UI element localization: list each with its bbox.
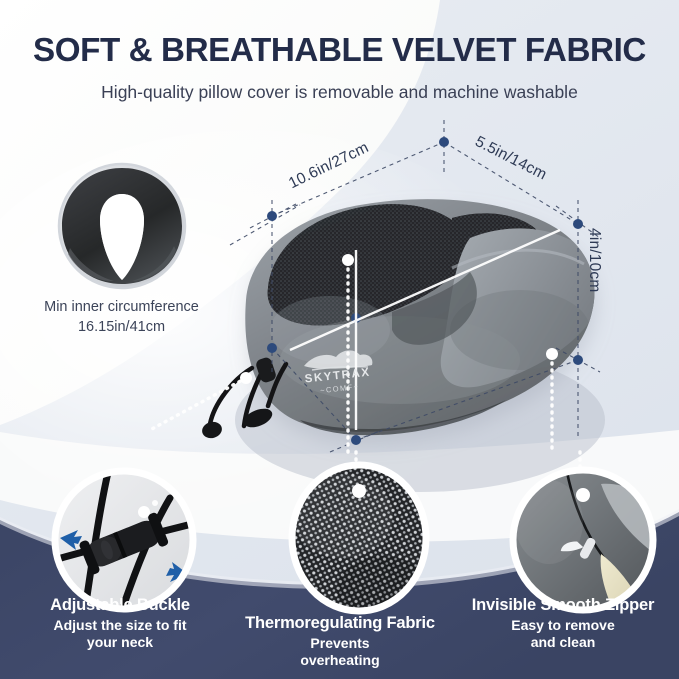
min-circumference-callout: Min inner circumference 16.15in/41cm [14,160,229,337]
feature-desc: Adjust the size to fit your neck [5,617,235,651]
feature-title: Invisible Smooth Zipper [448,596,678,615]
dimension-label-height: 4in/10cm [585,228,603,293]
zipper-photo [505,462,661,618]
circumference-text: Min inner circumference 16.15in/41cm [14,298,229,337]
feature-title: Adjustable Buckle [5,596,235,615]
feature-title: Thermoregulating Fabric [225,614,455,633]
feature-thermoregulating-fabric: Thermoregulating Fabric Prevents overhea… [225,614,455,669]
circumference-value: 16.15in/41cm [14,318,229,338]
page-subtitle: High-quality pillow cover is removable a… [0,70,679,103]
circumference-label: Min inner circumference [14,298,229,318]
infographic-page: SOFT & BREATHABLE VELVET FABRIC High-qua… [0,0,679,679]
pillow-top-view-icon [52,160,192,292]
header: SOFT & BREATHABLE VELVET FABRIC High-qua… [0,0,679,103]
page-title: SOFT & BREATHABLE VELVET FABRIC [3,0,675,70]
mesh-fabric-photo [283,458,435,618]
feature-invisible-smooth-zipper: Invisible Smooth Zipper Easy to remove a… [448,596,678,651]
feature-desc: Easy to remove and clean [448,617,678,651]
feature-desc: Prevents overheating [225,635,455,669]
feature-adjustable-buckle: Adjustable Buckle Adjust the size to fit… [5,596,235,651]
buckle-photo [48,464,200,616]
